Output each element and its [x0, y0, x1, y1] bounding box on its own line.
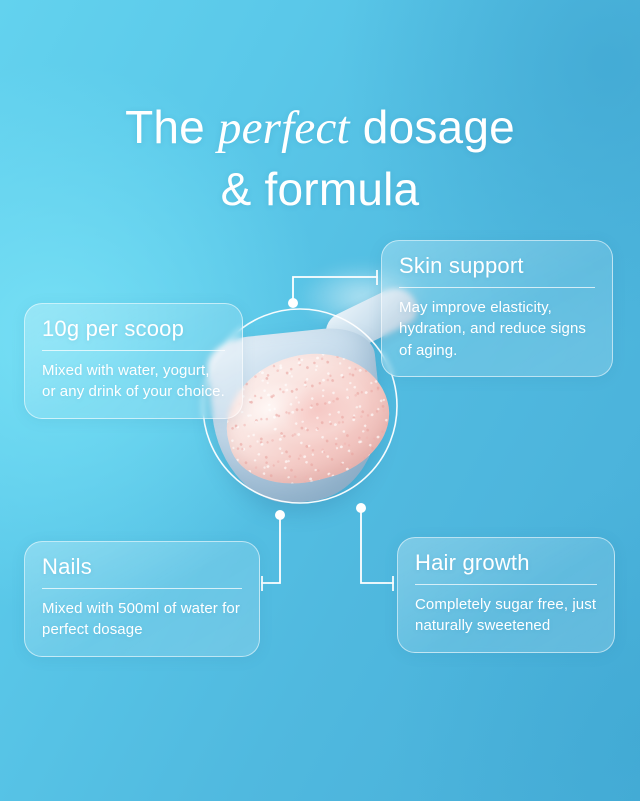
callout-divider [42, 350, 225, 351]
callout-body-hair-growth: Completely sugar free, just naturally sw… [415, 594, 597, 637]
callout-divider [399, 287, 595, 288]
callout-title-skin-support: Skin support [399, 254, 595, 278]
callout-card-hair-growth: Hair growth Completely sugar free, just … [397, 537, 615, 653]
callout-card-nails: Nails Mixed with 500ml of water for perf… [24, 541, 260, 657]
callout-divider [415, 584, 597, 585]
infographic-canvas: The perfect dosage & formula 10g per sco… [0, 0, 640, 801]
title-line-1: The perfect dosage [0, 104, 640, 152]
title-emphasis-perfect: perfect [218, 102, 350, 154]
callout-body-dosage: Mixed with water, yogurt, or any drink o… [42, 360, 225, 403]
callout-divider [42, 588, 242, 589]
callout-title-nails: Nails [42, 555, 242, 579]
title-text-the: The [125, 101, 218, 153]
page-title: The perfect dosage & formula [0, 104, 640, 212]
callout-body-skin-support: May improve elasticity, hydration, and r… [399, 297, 595, 361]
callout-card-dosage: 10g per scoop Mixed with water, yogurt, … [24, 303, 243, 419]
title-line-2: & formula [0, 166, 640, 212]
callout-title-dosage: 10g per scoop [42, 317, 225, 341]
callout-card-skin-support: Skin support May improve elasticity, hyd… [381, 240, 613, 377]
callout-title-hair-growth: Hair growth [415, 551, 597, 575]
title-text-dosage: dosage [350, 101, 515, 153]
callout-body-nails: Mixed with 500ml of water for perfect do… [42, 598, 242, 641]
